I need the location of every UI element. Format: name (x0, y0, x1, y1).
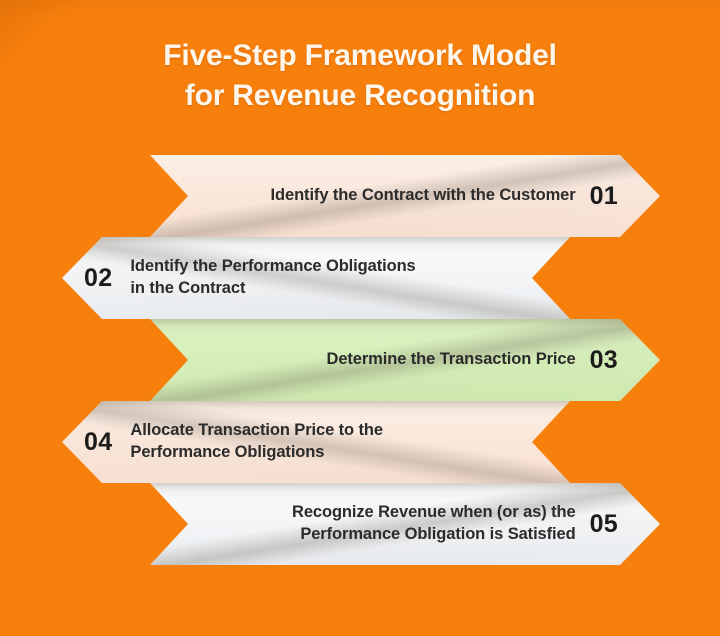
step-banner-01: Identify the Contract with the Customer … (0, 155, 720, 237)
step-number-04: 04 (84, 428, 112, 457)
step-label-03: Determine the Transaction Price (327, 349, 576, 371)
step-label-04-line-2: Performance Obligations (130, 442, 383, 464)
step-label-02-line-2: in the Contract (130, 278, 415, 300)
step-label-04: Allocate Transaction Price to the Perfor… (130, 420, 383, 464)
step-number-05: 05 (590, 510, 618, 539)
step-banner-04-content: 04 Allocate Transaction Price to the Per… (62, 401, 570, 483)
step-label-02: Identify the Performance Obligations in … (130, 256, 415, 300)
step-label-01: Identify the Contract with the Customer (271, 185, 576, 207)
step-banner-05: Recognize Revenue when (or as) the Perfo… (0, 483, 720, 565)
step-label-04-line-1: Allocate Transaction Price to the (130, 421, 383, 439)
step-label-01-line-1: Identify the Contract with the Customer (271, 186, 576, 204)
infographic-poster: Five-Step Framework Model for Revenue Re… (0, 0, 720, 636)
step-banner-01-content: Identify the Contract with the Customer … (150, 155, 660, 237)
step-number-02: 02 (84, 264, 112, 293)
step-label-05-line-1: Recognize Revenue when (or as) the (292, 503, 576, 521)
step-label-03-line-1: Determine the Transaction Price (327, 350, 576, 368)
title-line-2: for Revenue Recognition (0, 76, 720, 116)
step-label-05: Recognize Revenue when (or as) the Perfo… (292, 502, 576, 546)
step-banner-04: 04 Allocate Transaction Price to the Per… (0, 401, 720, 483)
step-number-01: 01 (590, 182, 618, 211)
title-line-1: Five-Step Framework Model (0, 36, 720, 76)
step-banner-03-content: Determine the Transaction Price 03 (150, 319, 660, 401)
step-banner-02: 02 Identify the Performance Obligations … (0, 237, 720, 319)
step-banner-02-content: 02 Identify the Performance Obligations … (62, 237, 570, 319)
steps-stack: Identify the Contract with the Customer … (0, 155, 720, 565)
step-banner-05-content: Recognize Revenue when (or as) the Perfo… (150, 483, 660, 565)
step-banner-03: Determine the Transaction Price 03 (0, 319, 720, 401)
step-label-02-line-1: Identify the Performance Obligations (130, 257, 415, 275)
page-title: Five-Step Framework Model for Revenue Re… (0, 36, 720, 116)
step-label-05-line-2: Performance Obligation is Satisfied (292, 524, 576, 546)
step-number-03: 03 (590, 346, 618, 375)
